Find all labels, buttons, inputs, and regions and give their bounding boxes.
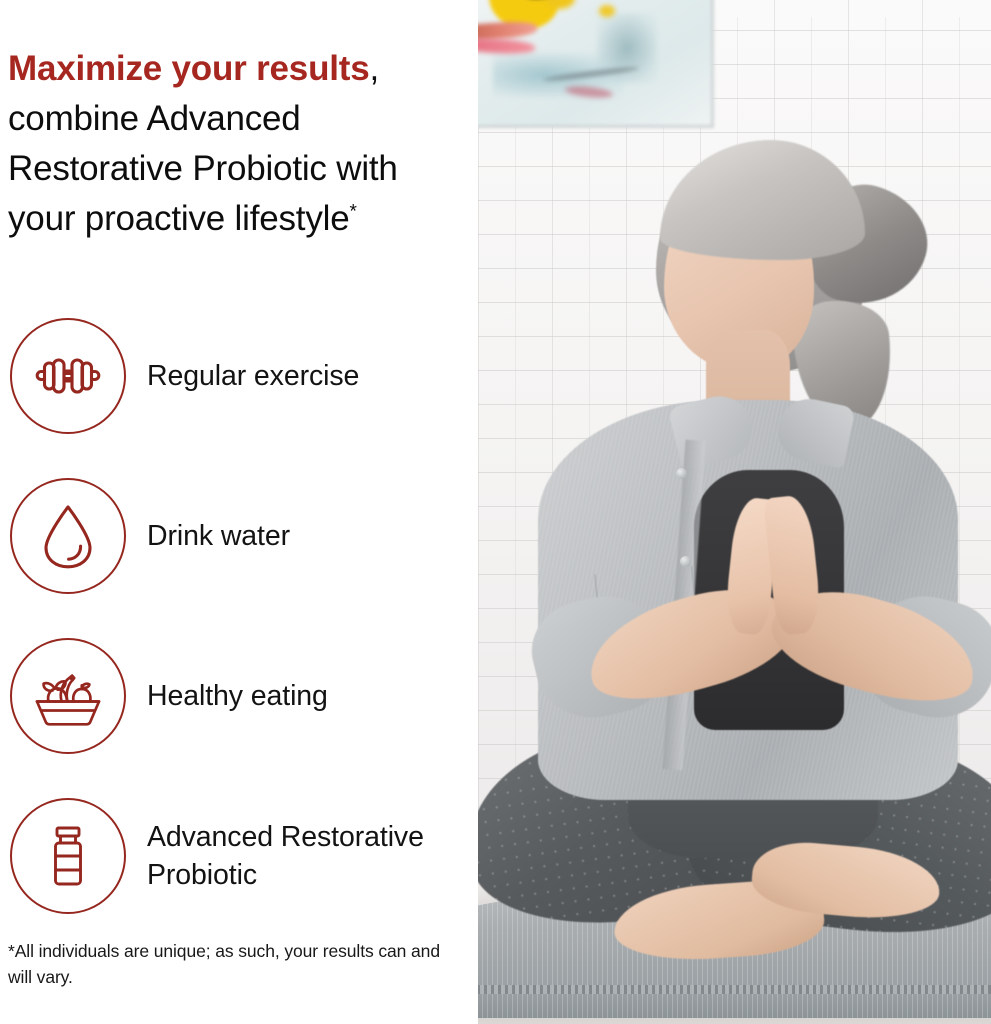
list-item: Regular exercise (0, 296, 470, 456)
infographic-page: Maximize your results, combine Advanced … (0, 0, 991, 1024)
hair-top (660, 140, 865, 260)
supplement-bottle-icon (10, 798, 126, 914)
list-item-label: Advanced Restorative Probiotic (147, 818, 470, 894)
headline-accent: Maximize your results (8, 49, 370, 88)
list-item-label: Drink water (147, 517, 290, 555)
list-item: Healthy eating (0, 616, 470, 776)
shirt-button (676, 468, 687, 479)
left-content-panel: Maximize your results, combine Advanced … (0, 0, 478, 1024)
benefits-list: Regular exercise Drink water (0, 296, 470, 936)
fruit-bowl-icon (10, 638, 126, 754)
list-item-label: Healthy eating (147, 677, 328, 715)
list-item-label: Regular exercise (147, 357, 359, 395)
woman-meditating (478, 0, 991, 1024)
headline-superscript-asterisk: * (349, 201, 356, 222)
list-item: Advanced Restorative Probiotic (0, 776, 470, 936)
water-drop-icon (10, 478, 126, 594)
list-item: Drink water (0, 456, 470, 616)
lifestyle-photo (478, 0, 991, 1024)
dumbbell-icon (10, 318, 126, 434)
page-headline: Maximize your results, combine Advanced … (8, 44, 460, 244)
footnote-disclaimer: *All individuals are unique; as such, yo… (8, 938, 453, 990)
